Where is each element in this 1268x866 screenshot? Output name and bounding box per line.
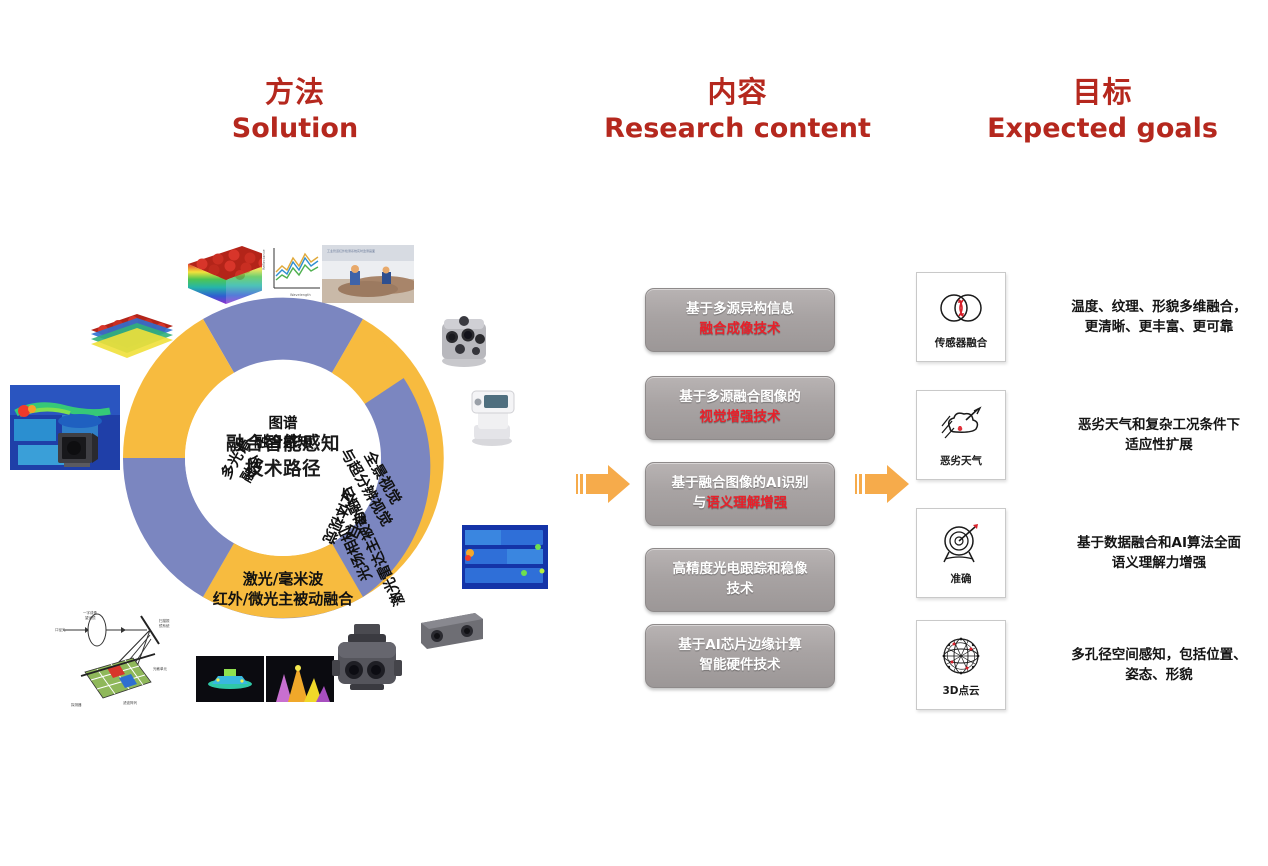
svg-text:一字成像: 一字成像: [83, 610, 97, 615]
goal-card-bad-weather[interactable]: 恶劣天气: [916, 390, 1006, 480]
technology-roadmap-wheel: 融合智能感知 技术路径 图谱 融合感知 激光/毫米波 红外/微光主被动融合 全景…: [118, 293, 448, 623]
svg-text:探测器: 探测器: [71, 702, 82, 707]
goal-text-sensor-fusion: 温度、纹理、形貌多维融合， 更清晰、更丰富、更可靠: [1034, 297, 1268, 338]
ptz-camera-photo: [462, 385, 522, 447]
arrow-solution-to-content: [576, 462, 634, 506]
research-box-1-line1: 基于多源异构信息: [686, 300, 794, 320]
svg-text:滤波阵列: 滤波阵列: [123, 700, 137, 705]
svg-text:望远镜: 望远镜: [85, 615, 96, 620]
goal-card-caption: 传感器融合: [935, 335, 988, 350]
goal-card-caption: 恶劣天气: [940, 453, 982, 468]
research-box-5-line1: 基于AI芯片边缘计算: [678, 636, 801, 656]
goal-row-point-cloud: 3D点云 多孔径空间感知，包括位置、 姿态、形貌: [916, 620, 1268, 710]
goal-row-sensor-fusion: 传感器融合 温度、纹理、形貌多维融合， 更清晰、更丰富、更可靠: [916, 272, 1268, 362]
research-box-1-line2: 融合成像技术: [686, 320, 794, 340]
research-box-3[interactable]: 基于融合图像的AI识别 与语义理解增强: [645, 462, 835, 526]
svg-text:镜系统: 镜系统: [159, 623, 170, 628]
wheel-label-spectral-fusion: 图谱 融合感知: [254, 415, 312, 453]
research-box-4-line1: 高精度光电跟踪和稳像: [673, 560, 808, 580]
goal-card-point-cloud[interactable]: 3D点云: [916, 620, 1006, 710]
arrow-content-to-goals: [855, 462, 913, 506]
goal-row-accuracy: 准确 基于数据融合和AI算法全面 语义理解力增强: [916, 508, 1268, 598]
point-cloud-icon: [938, 632, 984, 680]
goal-text-accuracy: 基于数据融合和AI算法全面 语义理解力增强: [1034, 533, 1268, 574]
goal-card-caption: 3D点云: [942, 683, 979, 698]
research-box-2-line1: 基于多源融合图像的: [679, 388, 801, 408]
svg-text:口径光: 口径光: [55, 627, 66, 632]
research-box-1[interactable]: 基于多源异构信息 融合成像技术: [645, 288, 835, 352]
diagram-canvas: 方法 Solution 内容 Research content 目标 Expec…: [0, 0, 1268, 866]
research-box-4-line2: 技术: [673, 580, 808, 600]
header-content-en: Research content: [595, 113, 880, 144]
sensor-fusion-icon: [933, 284, 989, 332]
lidar-boat-image: [196, 656, 264, 702]
svg-text:Reflectance: Reflectance: [262, 249, 266, 270]
research-box-3-line2: 语义理解增强: [706, 495, 787, 511]
thermal-camera-photo: [52, 425, 104, 471]
goal-text-bad-weather: 恶劣天气和复杂工况条件下 适应性扩展: [1034, 415, 1268, 456]
eo-turret-photo: [328, 620, 406, 702]
column-header-solution: 方法 Solution: [175, 76, 415, 144]
bad-weather-icon: [936, 402, 986, 450]
goal-card-accuracy[interactable]: 准确: [916, 508, 1006, 598]
research-box-5-line2: 智能硬件技术: [678, 656, 801, 676]
research-box-4[interactable]: 高精度光电跟踪和稳像 技术: [645, 548, 835, 612]
goal-text-point-cloud: 多孔径空间感知，包括位置、 姿态、形貌: [1034, 645, 1268, 686]
header-solution-en: Solution: [175, 113, 415, 144]
research-box-2-line2: 视觉增强技术: [679, 408, 801, 428]
header-content-zh: 内容: [595, 76, 880, 109]
goal-card-caption: 准确: [951, 571, 972, 586]
research-box-3-line1: 基于融合图像的AI识别: [672, 474, 809, 494]
thermal-wall-image: [462, 525, 548, 589]
target-accuracy-icon: [937, 520, 985, 568]
svg-text:光敏单元: 光敏单元: [153, 666, 167, 671]
goal-row-bad-weather: 恶劣天气 恶劣天气和复杂工况条件下 适应性扩展: [916, 390, 1268, 480]
lidar-scene-image: [266, 656, 334, 702]
header-goals-zh: 目标: [985, 76, 1220, 109]
research-box-5[interactable]: 基于AI芯片边缘计算 智能硬件技术: [645, 624, 835, 688]
svg-text:工业管道红外检测系统实时监测画面: 工业管道红外检测系统实时监测画面: [327, 248, 375, 253]
goal-card-sensor-fusion[interactable]: 传感器融合: [916, 272, 1006, 362]
research-box-2[interactable]: 基于多源融合图像的 视觉增强技术: [645, 376, 835, 440]
research-box-3-line2-prefix: 与: [693, 495, 707, 511]
column-header-content: 内容 Research content: [595, 76, 880, 144]
header-goals-en: Expected goals: [985, 113, 1220, 144]
column-header-goals: 目标 Expected goals: [985, 76, 1220, 144]
wheel-label-laser-mmwave: 激光/毫米波 红外/微光主被动融合: [213, 570, 353, 609]
header-solution-zh: 方法: [175, 76, 415, 109]
